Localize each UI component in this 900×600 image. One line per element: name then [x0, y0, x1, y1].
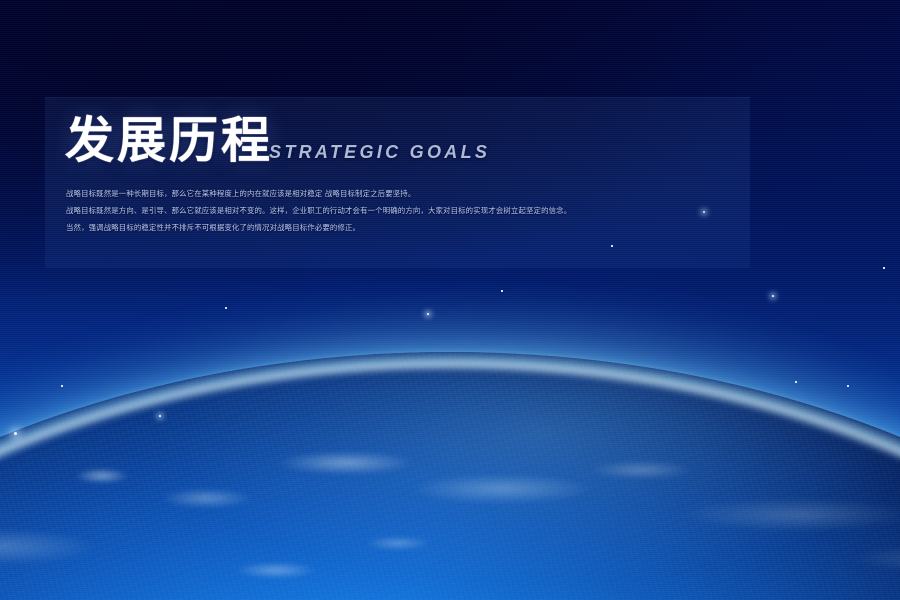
star-far-right — [883, 267, 884, 268]
hero-banner: 发展历程 STRATEGIC GOALS 战略目标既然是一种长期目标，那么它在某… — [0, 0, 900, 600]
body-paragraph-3: 当然，强调战略目标的稳定性并不排斥不可根据变化了的情况对战略目标作必要的修正。 — [66, 219, 732, 236]
body-paragraph-2: 战略目标既然是方向、是引导、那么它就应该是相对不变的。这样，企业职工的行动才会有… — [66, 202, 732, 219]
star-left-bright — [14, 432, 17, 435]
body-copy: 战略目标既然是一种长期目标，那么它在某种程度上的内在就应该是相对稳定 战略目标制… — [66, 185, 732, 236]
star-lower-left — [61, 385, 62, 386]
star-right-low — [795, 381, 796, 382]
star-center — [501, 290, 502, 291]
star-field — [0, 0, 900, 600]
body-paragraph-1: 战略目标既然是一种长期目标，那么它在某种程度上的内在就应该是相对稳定 战略目标制… — [66, 185, 732, 202]
star-right-far — [847, 385, 849, 387]
page-subtitle: STRATEGIC GOALS — [269, 143, 490, 165]
star-right-mid — [772, 295, 774, 297]
star-upper-left — [159, 415, 161, 417]
title-block: 发展历程 STRATEGIC GOALS — [65, 116, 490, 165]
page-title: 发展历程 — [65, 116, 273, 165]
star-mid-left — [225, 307, 226, 308]
star-mid-top — [427, 313, 429, 315]
